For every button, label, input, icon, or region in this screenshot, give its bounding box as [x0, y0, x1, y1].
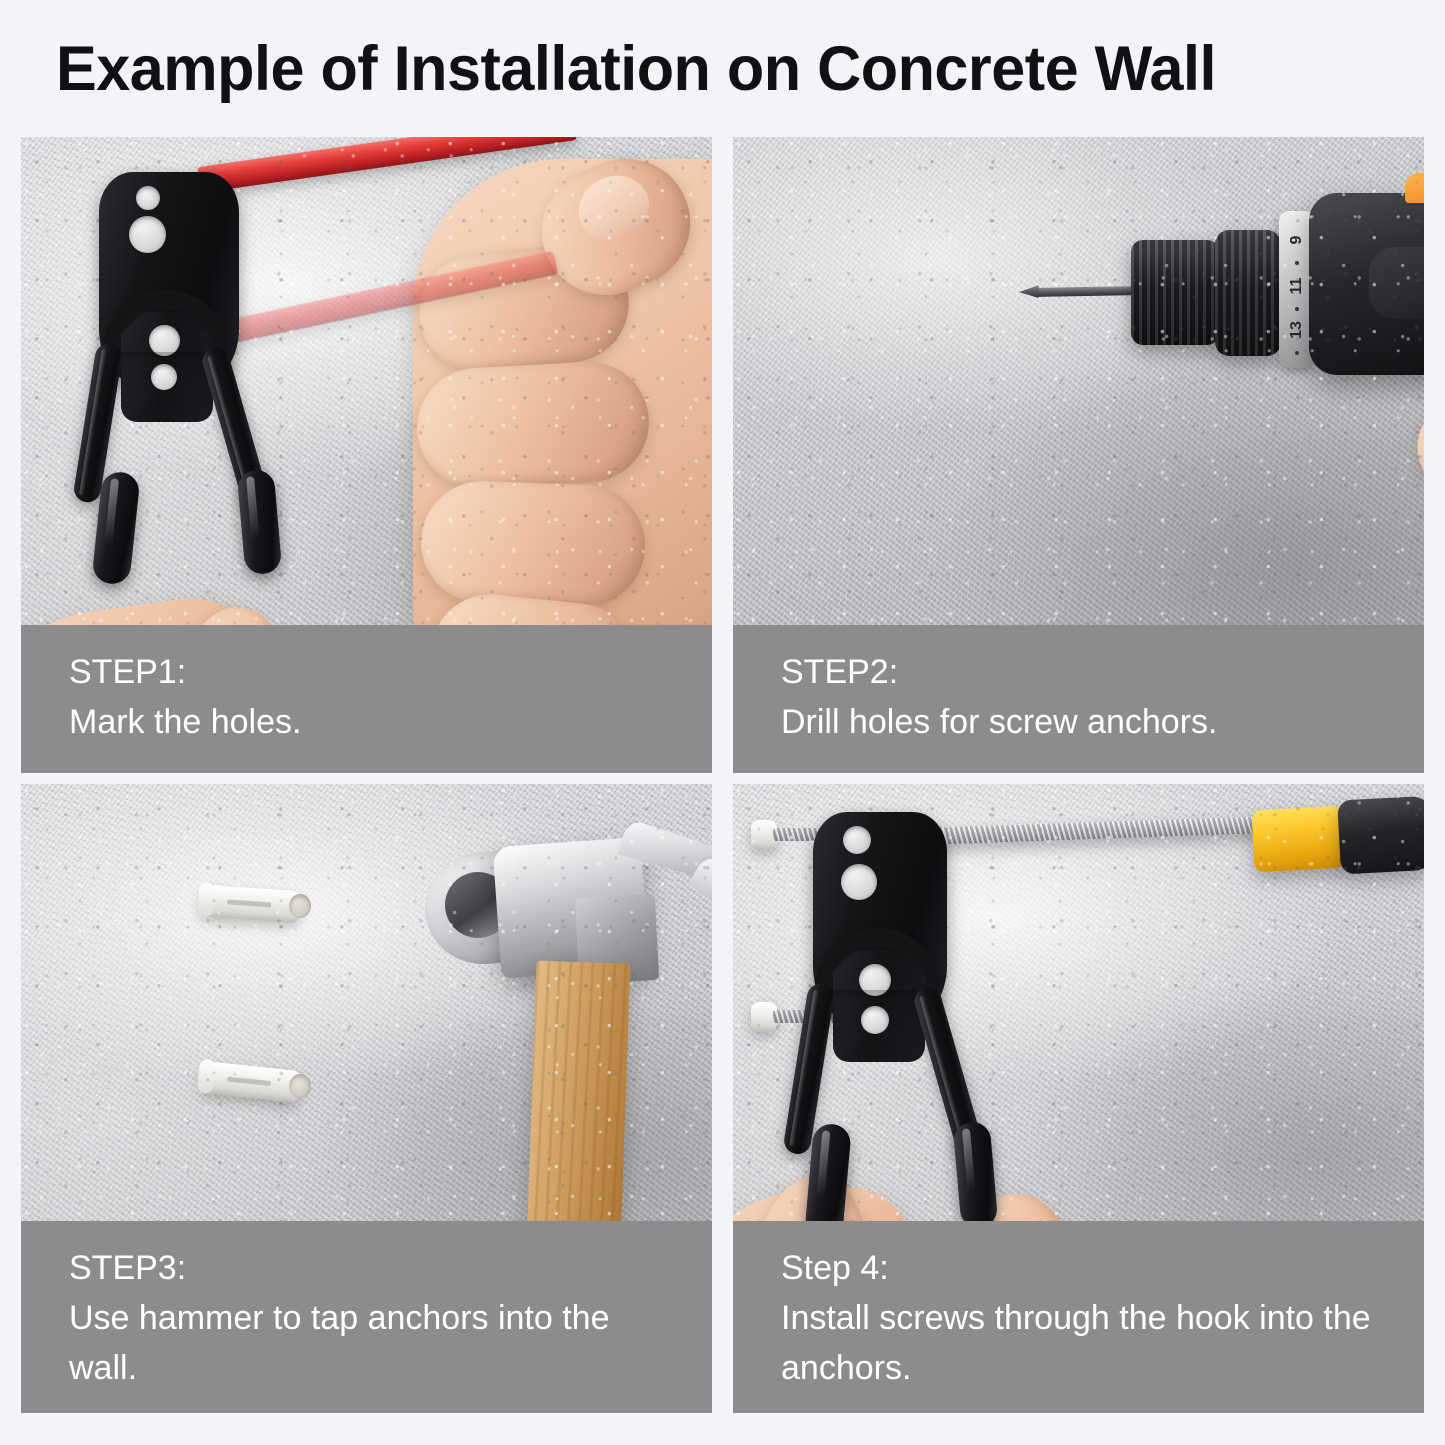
- hammer-handle: [522, 960, 631, 1221]
- ring-finger: [419, 479, 647, 609]
- step-card-1: STEP1: Mark the holes.: [21, 137, 712, 773]
- step-3-photo: [21, 784, 712, 1221]
- step-2-photo: 9 11 13: [733, 137, 1424, 625]
- hook-tip-left-installed-highlight: [817, 1130, 831, 1199]
- hook-tip-right-installed-highlight: [962, 1129, 976, 1193]
- clutch-dot-3: [1295, 351, 1299, 355]
- anchor-upper-rim: [197, 882, 215, 917]
- white-wall-anchor-upper: [200, 885, 302, 924]
- anchor-lower-slot: [227, 1077, 271, 1087]
- step-card-2: 9 11 13 STE: [733, 137, 1424, 773]
- hook-arm-left-highlight: [79, 349, 107, 495]
- trigger-finger: [1411, 393, 1424, 513]
- drill-bit: [1033, 286, 1138, 297]
- drill-top-accent: [1405, 173, 1424, 203]
- hook-tip-right-highlight: [246, 477, 260, 540]
- hook-tip-right: [237, 469, 283, 576]
- step-2-caption: STEP2: Drill holes for screw anchors.: [733, 625, 1424, 773]
- page-title: Example of Installation on Concrete Wall: [56, 26, 1356, 112]
- drill-chuck-collar: [1215, 230, 1281, 356]
- step-3-caption: STEP3: Use hammer to tap anchors into th…: [21, 1221, 712, 1413]
- drill-chuck: [1131, 240, 1219, 345]
- drill-body-panel: [1369, 247, 1424, 319]
- hook-hole-second-installed: [841, 864, 877, 900]
- step-4-caption: Step 4: Install screws through the hook …: [733, 1221, 1424, 1413]
- black-double-hook-installed: [795, 802, 1135, 1221]
- step-2-body: Drill holes for screw anchors.: [781, 697, 1376, 747]
- hook-hole-top-installed: [843, 826, 871, 854]
- clutch-number-9: 13: [1288, 310, 1306, 350]
- clutch-number-11: 11: [1288, 266, 1306, 306]
- screwdriver-grip: [1337, 796, 1424, 875]
- hook-hole-second: [129, 216, 166, 253]
- step-1-head: STEP1:: [69, 647, 664, 697]
- black-double-hook: [81, 172, 421, 625]
- step-card-4: Step 4: Install screws through the hook …: [733, 784, 1424, 1413]
- hook-tip-left-highlight: [104, 478, 119, 546]
- step-4-body: Install screws through the hook into the…: [781, 1293, 1376, 1393]
- step-1-body: Mark the holes.: [69, 697, 664, 747]
- anchor-upper-slot: [227, 899, 271, 907]
- step-4-head: Step 4:: [781, 1243, 1376, 1293]
- anchor-lower-rim: [197, 1059, 216, 1094]
- step-1-photo: [21, 137, 712, 625]
- step-3-body: Use hammer to tap anchors into the wall.: [69, 1293, 664, 1393]
- step-1-caption: STEP1: Mark the holes.: [21, 625, 712, 773]
- hook-hole-bottom: [151, 364, 177, 390]
- step-3-head: STEP3:: [69, 1243, 664, 1293]
- step-4-photo: [733, 784, 1424, 1221]
- middle-finger: [414, 359, 652, 491]
- anchor-upper-mouth: [288, 893, 312, 918]
- hook-hole-top: [136, 186, 160, 210]
- installation-steps-grid: STEP1: Mark the holes. 9 11 13: [21, 137, 1424, 1413]
- step-2-head: STEP2:: [781, 647, 1376, 697]
- clutch-number-13: 9: [1288, 220, 1306, 260]
- white-wall-anchor-lower: [200, 1061, 303, 1103]
- hook-tip-right-installed: [952, 1121, 998, 1221]
- screwdriver-handle: [1251, 806, 1350, 873]
- step-card-3: STEP3: Use hammer to tap anchors into th…: [21, 784, 712, 1413]
- drill-bit-tip: [1019, 285, 1039, 298]
- clutch-dot-1: [1295, 261, 1299, 265]
- hook-hole-bottom-installed: [861, 1006, 889, 1034]
